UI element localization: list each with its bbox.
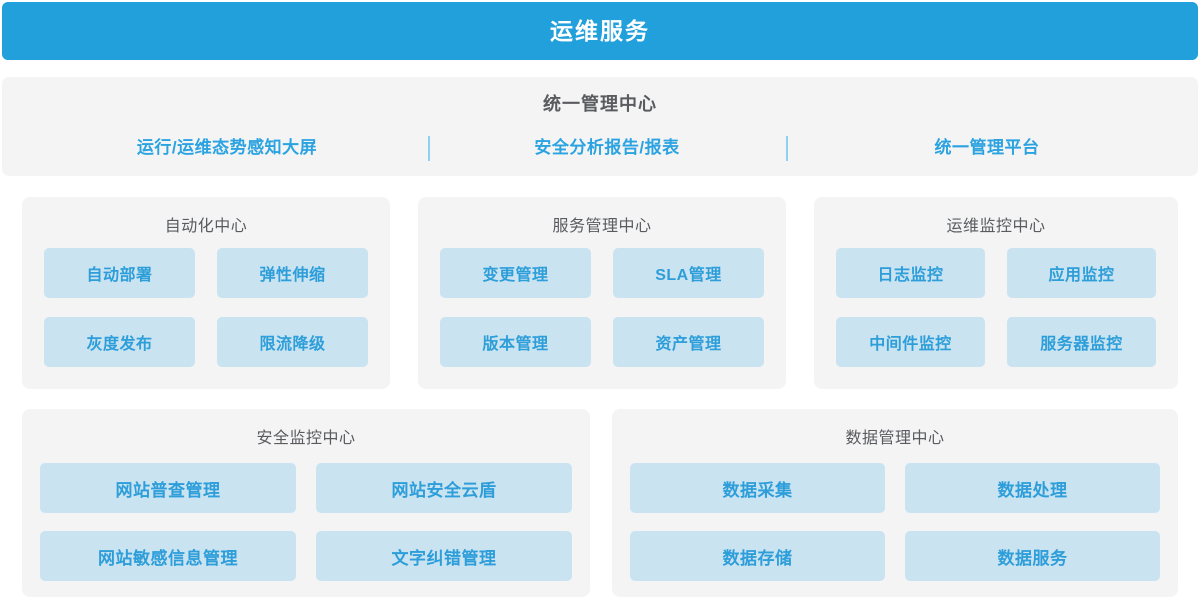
chip-elastic-scale[interactable]: 弹性伸缩 xyxy=(217,248,368,298)
unified-management-center-title: 统一管理中心 xyxy=(543,95,657,113)
unified-management-center-links: 运行/运维态势感知大屏 安全分析报告/报表 统一管理平台 xyxy=(2,135,1198,161)
group-card-item-grid: 自动部署 弹性伸缩 灰度发布 限流降级 xyxy=(44,248,368,367)
chip-asset-management[interactable]: 资产管理 xyxy=(613,317,764,367)
group-card-ops-monitoring-center: 运维监控中心 日志监控 应用监控 中间件监控 服务器监控 xyxy=(814,197,1178,389)
group-card-title: 服务管理中心 xyxy=(418,219,786,235)
group-card-title: 自动化中心 xyxy=(22,219,390,235)
group-card-security-monitoring-center: 安全监控中心 网站普查管理 网站安全云盾 网站敏感信息管理 文字纠错管理 xyxy=(22,409,590,597)
group-card-title: 数据管理中心 xyxy=(612,431,1178,447)
architecture-diagram: 运维服务 统一管理中心 运行/运维态势感知大屏 安全分析报告/报表 统一管理平台… xyxy=(0,0,1200,602)
unified-management-center-panel: 统一管理中心 运行/运维态势感知大屏 安全分析报告/报表 统一管理平台 xyxy=(2,77,1198,176)
chip-sla-management[interactable]: SLA管理 xyxy=(613,248,764,298)
group-card-item-grid: 变更管理 SLA管理 版本管理 资产管理 xyxy=(440,248,764,367)
group-card-data-management-center: 数据管理中心 数据采集 数据处理 数据存储 数据服务 xyxy=(612,409,1178,597)
chip-website-census-management[interactable]: 网站普查管理 xyxy=(40,463,296,513)
group-card-title: 安全监控中心 xyxy=(22,431,590,447)
link-divider-1 xyxy=(428,136,430,161)
chip-data-service[interactable]: 数据服务 xyxy=(905,531,1160,581)
chip-rate-limit-degrade[interactable]: 限流降级 xyxy=(217,317,368,367)
page-banner: 运维服务 xyxy=(2,2,1198,60)
mgmt-link-unified-management-platform[interactable]: 统一管理平台 xyxy=(822,135,1152,161)
chip-data-collection[interactable]: 数据采集 xyxy=(630,463,885,513)
chip-text-correction-management[interactable]: 文字纠错管理 xyxy=(316,531,572,581)
chip-server-monitoring[interactable]: 服务器监控 xyxy=(1007,317,1156,367)
chip-data-processing[interactable]: 数据处理 xyxy=(905,463,1160,513)
chip-application-monitoring[interactable]: 应用监控 xyxy=(1007,248,1156,298)
chip-version-management[interactable]: 版本管理 xyxy=(440,317,591,367)
chip-auto-deploy[interactable]: 自动部署 xyxy=(44,248,195,298)
group-card-item-grid: 日志监控 应用监控 中间件监控 服务器监控 xyxy=(836,248,1156,367)
chip-data-storage[interactable]: 数据存储 xyxy=(630,531,885,581)
link-divider-2 xyxy=(786,136,788,161)
chip-middleware-monitoring[interactable]: 中间件监控 xyxy=(836,317,985,367)
chip-website-security-cloud-shield[interactable]: 网站安全云盾 xyxy=(316,463,572,513)
chip-log-monitoring[interactable]: 日志监控 xyxy=(836,248,985,298)
mgmt-link-situation-awareness-dashboard[interactable]: 运行/运维态势感知大屏 xyxy=(62,135,392,161)
group-card-item-grid: 网站普查管理 网站安全云盾 网站敏感信息管理 文字纠错管理 xyxy=(40,463,572,581)
mgmt-link-security-analysis-report[interactable]: 安全分析报告/报表 xyxy=(462,135,752,161)
chip-change-management[interactable]: 变更管理 xyxy=(440,248,591,298)
group-card-item-grid: 数据采集 数据处理 数据存储 数据服务 xyxy=(630,463,1160,581)
group-card-automation-center: 自动化中心 自动部署 弹性伸缩 灰度发布 限流降级 xyxy=(22,197,390,389)
page-title: 运维服务 xyxy=(550,20,650,43)
chip-gray-release[interactable]: 灰度发布 xyxy=(44,317,195,367)
group-card-title: 运维监控中心 xyxy=(814,219,1178,235)
chip-website-sensitive-info-management[interactable]: 网站敏感信息管理 xyxy=(40,531,296,581)
group-card-service-management-center: 服务管理中心 变更管理 SLA管理 版本管理 资产管理 xyxy=(418,197,786,389)
